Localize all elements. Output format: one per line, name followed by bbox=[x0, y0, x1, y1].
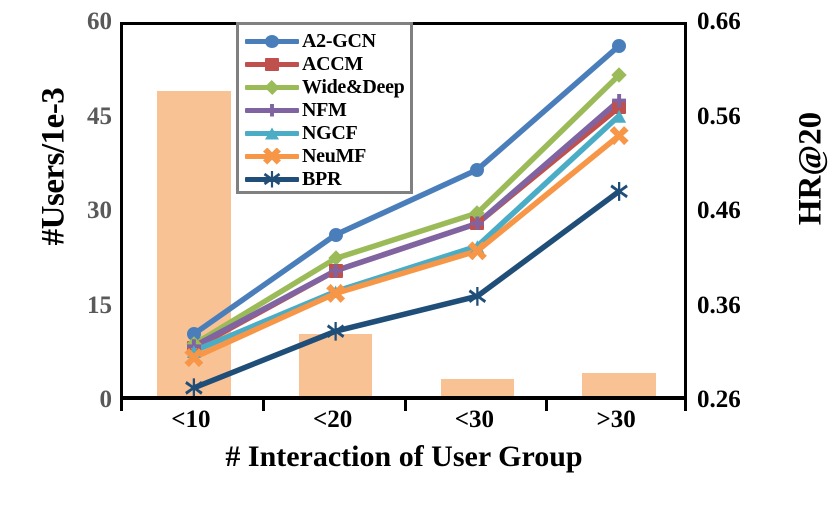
y-tick-left: 45 bbox=[54, 104, 112, 129]
y-tick-right: 0.26 bbox=[697, 387, 775, 412]
legend-item-nfm[interactable]: NFM bbox=[239, 98, 410, 121]
x-tick: <10 bbox=[131, 406, 251, 434]
y-tick-left: 15 bbox=[54, 293, 112, 318]
legend-item-neumf[interactable]: NeuMF bbox=[239, 144, 410, 167]
x-tick: <20 bbox=[273, 406, 393, 434]
y-axis-right-title: HR@20 bbox=[793, 34, 828, 304]
legend-label: NGCF bbox=[302, 123, 357, 143]
legend-swatch bbox=[245, 102, 299, 118]
x-tick-mark bbox=[262, 400, 265, 411]
legend-marker-diamond bbox=[265, 80, 280, 95]
legend-item-wide-deep[interactable]: Wide&Deep bbox=[239, 75, 410, 98]
legend-marker-plus bbox=[265, 104, 279, 117]
legend-marker-square bbox=[265, 58, 279, 71]
y-tick-left: 0 bbox=[54, 387, 112, 412]
legend-marker-circle bbox=[265, 35, 279, 48]
legend-label: ACCM bbox=[302, 54, 363, 74]
y-tick-right: 0.66 bbox=[697, 9, 775, 34]
marker-circle bbox=[612, 39, 626, 53]
marker-circle bbox=[470, 163, 484, 177]
legend-item-ngcf[interactable]: NGCF bbox=[239, 121, 410, 144]
legend-swatch bbox=[245, 79, 299, 95]
marker-circle bbox=[329, 228, 343, 242]
legend-label: NeuMF bbox=[302, 146, 366, 166]
legend-swatch bbox=[245, 56, 299, 72]
x-axis-title: # Interaction of User Group bbox=[120, 440, 688, 474]
legend-label: A2-GCN bbox=[302, 31, 376, 51]
y-tick-left: 30 bbox=[54, 198, 112, 223]
legend-label: Wide&Deep bbox=[302, 77, 404, 97]
y-axis-left-title: #Users/1e-3 bbox=[36, 17, 73, 317]
legend-swatch bbox=[245, 125, 299, 141]
y-tick-right: 0.46 bbox=[697, 198, 775, 223]
y-tick-right: 0.56 bbox=[697, 104, 775, 129]
y-tick-left: 60 bbox=[54, 9, 112, 34]
legend-label: BPR bbox=[302, 169, 341, 189]
x-tick-mark bbox=[545, 400, 548, 411]
x-tick: <30 bbox=[414, 406, 534, 434]
legend-item-a2-gcn[interactable]: A2-GCN bbox=[239, 29, 410, 52]
legend-label: NFM bbox=[302, 100, 347, 120]
chart-figure: #Users/1e-3 HR@20 # Interaction of User … bbox=[0, 0, 828, 511]
legend-item-accm[interactable]: ACCM bbox=[239, 52, 410, 75]
x-tick: >30 bbox=[556, 406, 676, 434]
legend-swatch bbox=[245, 171, 299, 187]
x-tick-mark bbox=[120, 400, 123, 411]
legend-swatch bbox=[245, 148, 299, 164]
chart-legend: A2-GCNACCMWide&DeepNFMNGCFNeuMFBPR bbox=[236, 22, 413, 194]
x-tick-mark bbox=[684, 400, 687, 411]
legend-swatch bbox=[245, 33, 299, 49]
y-tick-right: 0.36 bbox=[697, 293, 775, 318]
x-tick-mark bbox=[404, 400, 407, 411]
legend-item-bpr[interactable]: BPR bbox=[239, 167, 410, 190]
